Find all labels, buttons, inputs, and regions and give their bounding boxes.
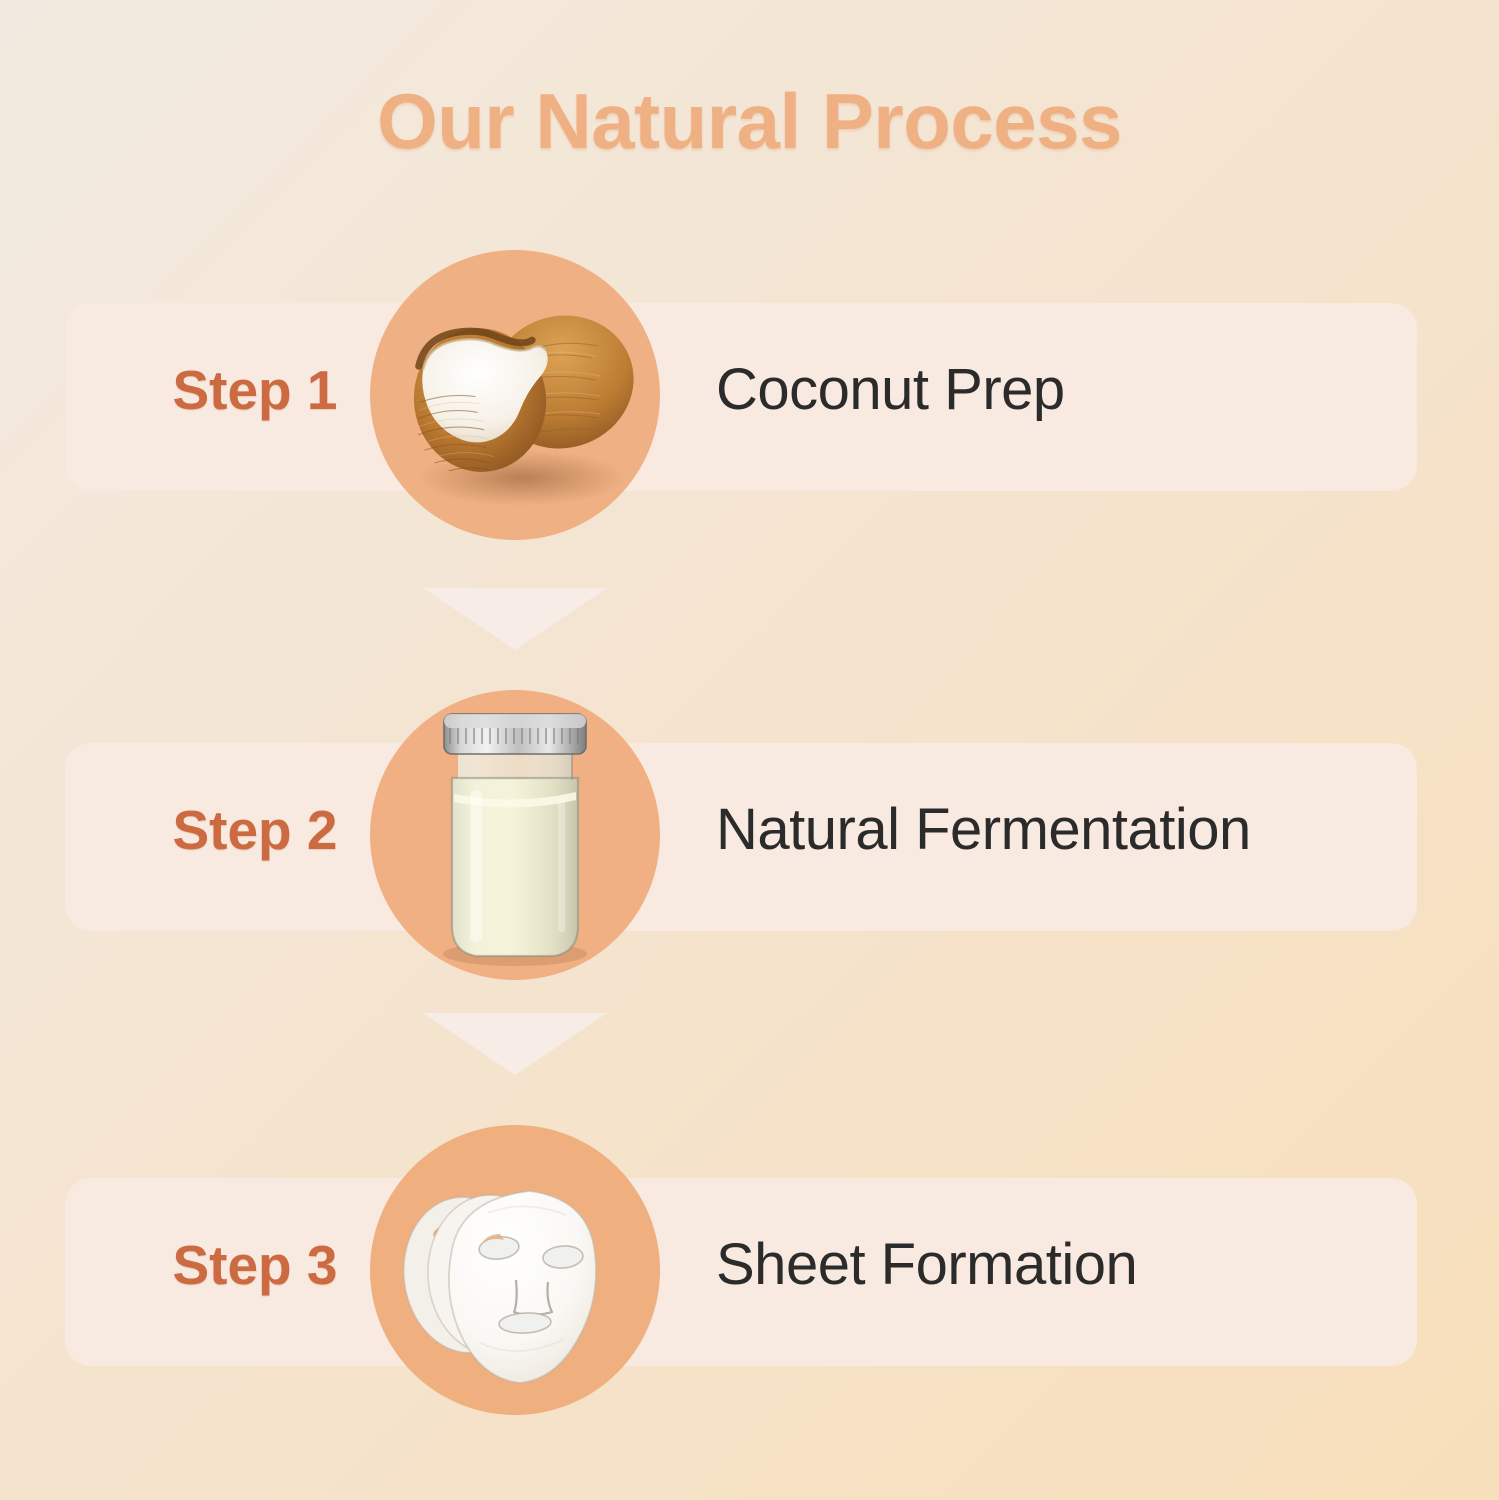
step-title-2: Natural Fermentation bbox=[716, 801, 1251, 859]
process-step-row-2: Step 2 bbox=[0, 685, 1499, 985]
process-step-row-3: Step 3 bbox=[0, 1120, 1499, 1420]
coconut-halves-icon bbox=[370, 250, 660, 540]
sheet-mask-stack-icon bbox=[370, 1125, 660, 1415]
infographic-page: Our Natural Process Step 1 bbox=[0, 0, 1499, 1500]
step-title-3: Sheet Formation bbox=[716, 1236, 1137, 1294]
step-title-1: Coconut Prep bbox=[716, 361, 1065, 419]
arrow-down-icon-1 bbox=[423, 588, 607, 650]
step-label-2: Step 2 bbox=[110, 803, 400, 858]
arrow-down-icon-2 bbox=[423, 1013, 607, 1075]
process-step-row-1: Step 1 bbox=[0, 245, 1499, 545]
step-label-3: Step 3 bbox=[110, 1238, 400, 1293]
step-label-1: Step 1 bbox=[110, 363, 400, 418]
page-title: Our Natural Process bbox=[0, 82, 1499, 160]
mason-jar-icon bbox=[370, 690, 660, 980]
